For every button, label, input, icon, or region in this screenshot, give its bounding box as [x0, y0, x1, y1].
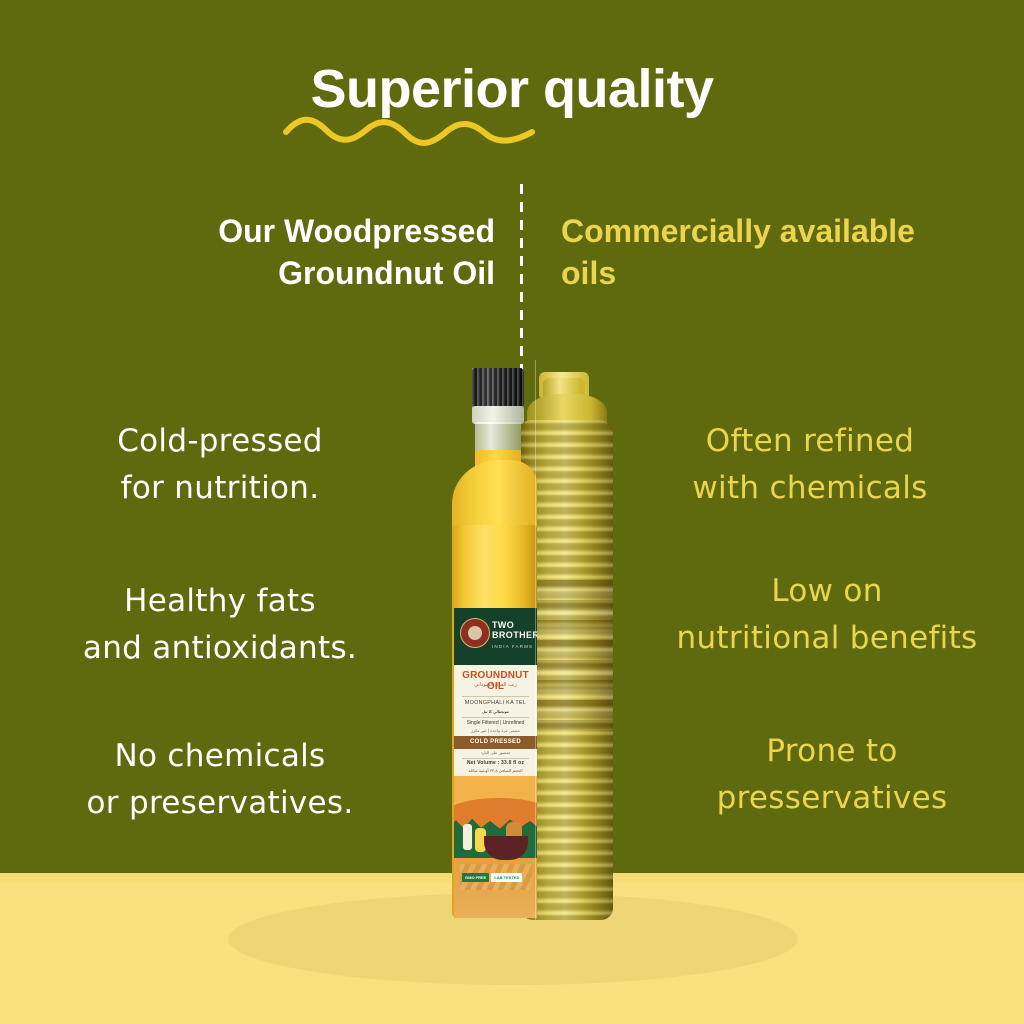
label-divider-3	[462, 758, 529, 759]
brand-tagline: INDIA FARMS	[492, 644, 533, 649]
label-hindi-name-arabic: مونجفالي كا تيل	[454, 709, 537, 714]
feature-left-1: Cold-pressed for nutrition.	[20, 418, 420, 512]
page-title: Superior quality	[0, 58, 1024, 120]
feature-right-1: Often refined with chemicals	[610, 418, 1010, 512]
label-divider-2	[462, 717, 529, 718]
feature-left-3-line1: No chemicals	[20, 733, 420, 780]
feature-right-1-line1: Often refined	[610, 418, 1010, 465]
cap-ridges	[472, 368, 524, 408]
feature-left-2-line1: Healthy fats	[20, 578, 420, 625]
feature-right-3-line2: presservatives	[632, 775, 1024, 822]
product-label: TWO BROTHERS INDIA FARMS GROUNDNUT OIL ز…	[454, 608, 537, 776]
label-hindi-name: MOONGPHALI KA TEL	[454, 700, 537, 706]
label-oil-name-arabic: زيت الفول السوداني	[454, 682, 537, 688]
feature-left-1-line2: for nutrition.	[20, 465, 420, 512]
column-heading-ours-line1: Our Woodpressed	[218, 213, 495, 249]
certification-badges: GMO FREE LAB TESTED	[462, 873, 522, 882]
brand-name-line2: BROTHERS	[492, 630, 537, 640]
label-divider-1	[462, 696, 529, 697]
feature-left-3: No chemicals or preservatives.	[20, 733, 420, 827]
squiggle-underline-icon	[282, 112, 544, 152]
label-oil-name: GROUNDNUT OIL	[454, 670, 537, 692]
brand-name: TWO BROTHERS	[492, 620, 537, 640]
woodpressed-glass-bottle: TWO BROTHERS INDIA FARMS GROUNDNUT OIL ز…	[444, 360, 537, 920]
feature-right-2-line2: nutritional benefits	[627, 615, 1024, 662]
feature-left-2-line2: and antioxidants.	[20, 625, 420, 672]
poster-canvas: Superior quality Our Woodpressed Groundn…	[0, 0, 1024, 1024]
feature-right-3: Prone to presservatives	[632, 728, 1024, 822]
brand-name-line1: TWO	[492, 620, 514, 630]
brand-crest-icon	[460, 618, 490, 648]
label-cold-pressed-arabic: معصور على البارد	[454, 750, 537, 755]
label-illustration-panel: GMO FREE LAB TESTED	[454, 776, 537, 918]
label-net-volume: Net Volume : 33.8 fl oz	[454, 760, 537, 766]
label-header-band: TWO BROTHERS INDIA FARMS	[454, 608, 537, 665]
column-heading-ours-line2: Groundnut Oil	[278, 255, 495, 291]
feature-right-2-line1: Low on	[627, 568, 1024, 615]
label-filtered-arabic: مصفى مرة واحدة | غير مكرر	[454, 728, 537, 733]
column-heading-others: Commercially available oils	[561, 210, 961, 294]
label-net-volume-arabic: الحجم الصافي ٣٣٫٨ أونصة سائلة	[454, 768, 537, 773]
feature-right-1-line2: with chemicals	[610, 465, 1010, 512]
comparison-divider	[520, 184, 523, 374]
label-cold-pressed-banner: COLD PRESSED	[454, 736, 537, 749]
product-image-split-bottle: TWO BROTHERS INDIA FARMS GROUNDNUT OIL ز…	[430, 360, 630, 920]
glass-bottle-cap	[472, 368, 524, 408]
split-seam	[535, 360, 536, 920]
column-heading-others-line1: Commercially	[561, 213, 771, 249]
illustration-bottle-white-icon	[463, 824, 472, 850]
feature-right-2: Low on nutritional benefits	[627, 568, 1024, 662]
feature-left-2: Healthy fats and antioxidants.	[20, 578, 420, 672]
feature-right-3-line1: Prone to	[632, 728, 1024, 775]
label-filtered-text: Single Filtered | Unrefined	[454, 720, 537, 726]
gmo-free-badge: GMO FREE	[462, 873, 489, 882]
lab-tested-badge: LAB TESTED	[491, 873, 522, 882]
feature-left-3-line2: or preservatives.	[20, 780, 420, 827]
feature-left-1-line1: Cold-pressed	[20, 418, 420, 465]
column-heading-ours: Our Woodpressed Groundnut Oil	[120, 210, 495, 294]
